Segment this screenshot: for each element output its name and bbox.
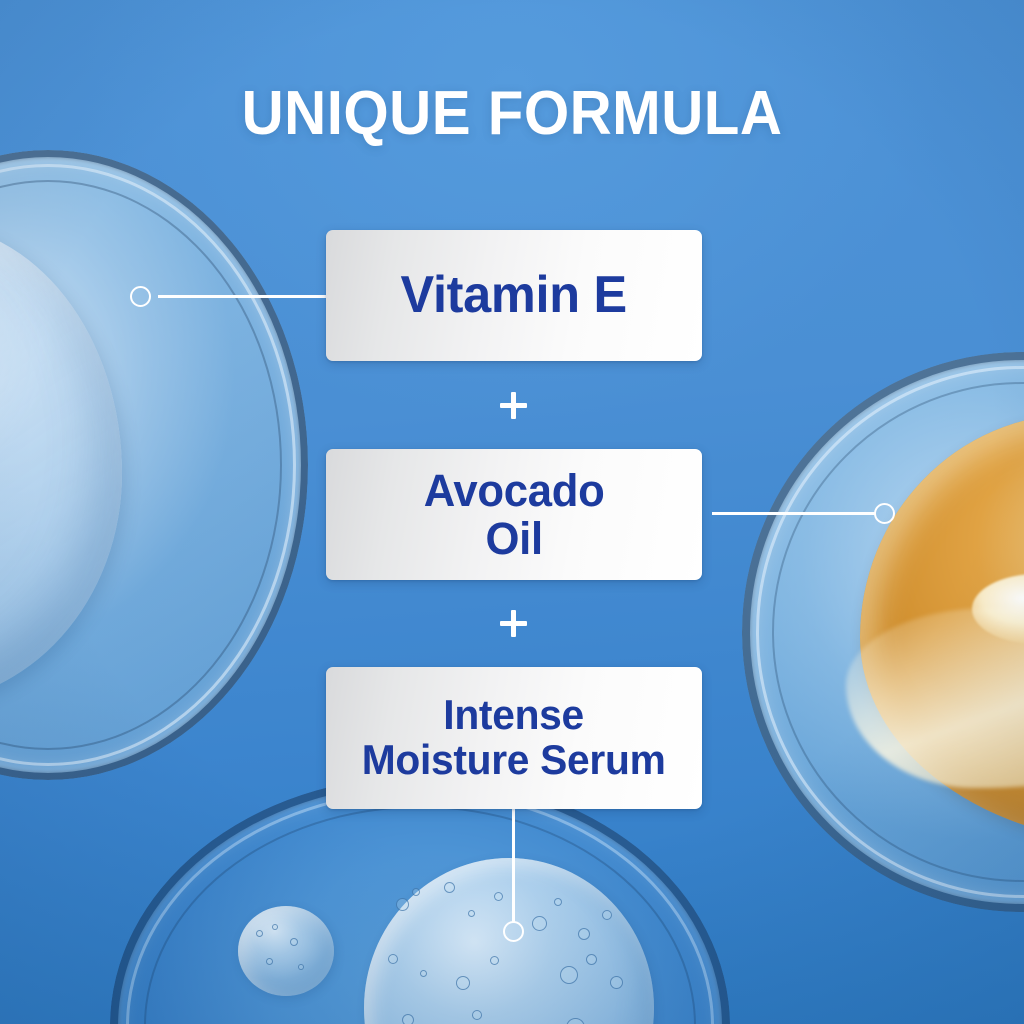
ingredient-label-vitamin-e: Vitamin E	[401, 268, 627, 323]
connector-line-avocado-oil	[712, 512, 876, 515]
connector-line-intense-moisture-serum	[512, 809, 515, 922]
connector-line-vitamin-e	[158, 295, 326, 298]
ingredient-label-line: Moisture Serum	[362, 738, 666, 783]
ingredient-card-avocado-oil[interactable]: Avocado Oil	[326, 449, 702, 580]
ingredient-label-line: Intense	[362, 693, 666, 738]
ingredient-label-avocado-oil: Avocado Oil	[424, 467, 605, 562]
infographic-canvas: UNIQUE FORMULA Vitamin E Avocado Oil Int…	[0, 0, 1024, 1024]
ingredient-label-line: Oil	[424, 515, 605, 563]
ingredient-card-vitamin-e[interactable]: Vitamin E	[326, 230, 702, 361]
plus-separator-icon-2	[500, 610, 527, 637]
ingredient-label-intense-moisture-serum: Intense Moisture Serum	[362, 693, 666, 782]
page-title: UNIQUE FORMULA	[31, 83, 994, 145]
circle-marker-icon-vitamin-e	[130, 286, 151, 307]
circle-marker-icon-avocado-oil	[874, 503, 895, 524]
ingredient-card-intense-moisture-serum[interactable]: Intense Moisture Serum	[326, 667, 702, 809]
circle-marker-icon-intense-moisture-serum	[503, 921, 524, 942]
ingredient-label-line: Avocado	[424, 467, 605, 515]
plus-separator-icon-1	[500, 392, 527, 419]
